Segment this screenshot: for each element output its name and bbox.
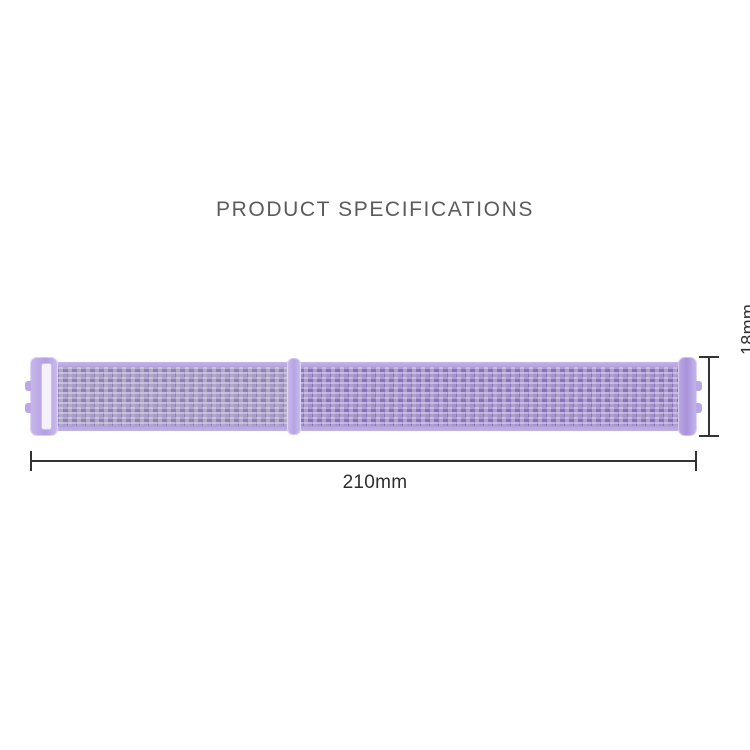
clasp-tab-lower — [25, 403, 31, 413]
strap-section-right — [295, 362, 685, 431]
dimension-label-height: 18mm — [707, 304, 750, 355]
cap-tab-lower — [696, 403, 702, 413]
strap-edge-bottom — [50, 426, 685, 431]
dimension-endcap-left — [30, 451, 32, 471]
dimension-endcap-top — [699, 356, 719, 358]
dimension-label-width: 210mm — [0, 472, 750, 494]
dimension-line-width — [30, 460, 697, 462]
strap-section-left — [50, 362, 295, 431]
dimension-endcap-bottom — [699, 435, 719, 437]
strap-edge-top — [50, 362, 685, 367]
keeper-loop — [287, 358, 301, 435]
clasp-tab-upper — [25, 381, 31, 391]
right-end-cap — [678, 357, 697, 436]
product-diagram: 210mm 18mm — [0, 0, 750, 750]
dimension-line-height — [708, 356, 710, 437]
nylon-weave-texture-left — [50, 362, 295, 431]
cap-tab-upper — [696, 381, 702, 391]
left-clasp — [30, 357, 58, 436]
dimension-endcap-right — [695, 451, 697, 471]
clasp-slot — [41, 363, 52, 430]
nylon-weave-texture-right — [295, 362, 685, 431]
